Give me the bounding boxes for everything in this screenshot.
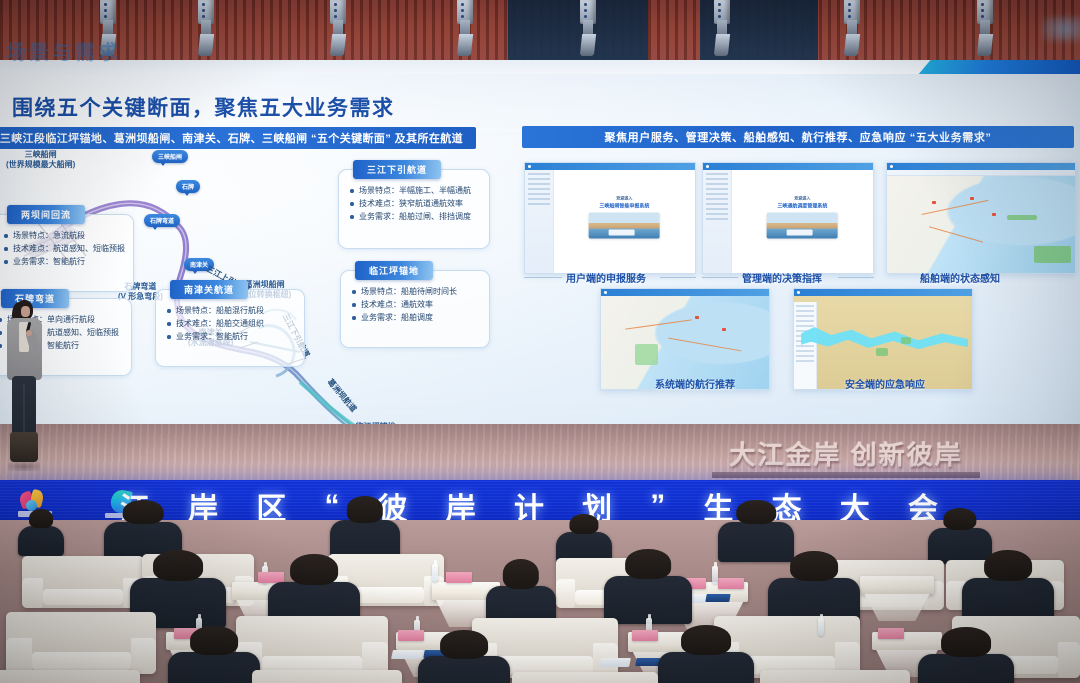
map-land-green — [1034, 246, 1072, 262]
right-section-banner-text: 聚焦用户服务、管理决策、船舶感知、航行推荐、应急响应 “五大业务需求” — [604, 129, 991, 145]
map-road — [625, 319, 692, 329]
app-screenshot-navigation-recommendation — [600, 288, 770, 390]
presenter-boots — [10, 432, 38, 462]
audience-member-foreground — [658, 652, 754, 683]
audience-chair-foreground — [0, 670, 140, 683]
map-road — [929, 226, 983, 243]
info-card-item: 场景特点：急流航段 — [3, 229, 125, 242]
app-sidebar — [703, 170, 732, 273]
audience-member-foreground — [418, 656, 510, 683]
info-card-item: 技术难点：船舶交通组织 — [166, 317, 296, 330]
app-screenshot-emergency-response — [793, 288, 973, 390]
left-section-banner-text: 围绕三峡江段临江坪锚地、葛洲坝船闸、南津关、石牌、三峡船闸 “五个关键断面” 及… — [0, 130, 463, 146]
info-card-item: 技术难点：航道感知、短临预报 — [3, 242, 125, 255]
info-card-item: 业务需求：船舶调度 — [351, 311, 481, 324]
audience-chair — [22, 556, 144, 608]
stage-light-6 — [712, 0, 732, 56]
map-marker — [970, 197, 974, 200]
stage-light-3 — [328, 0, 348, 56]
info-card-liangbajian: 两坝间回流 场景特点：急流航段 技术难点：航道感知、短临预报 业务需求：智能航行 — [0, 214, 134, 292]
map-view-sea — [887, 170, 1075, 273]
info-card-title: 临江坪锚地 — [355, 261, 433, 280]
info-card-sanjiang-lower: 三江下引航道 场景特点：半幅施工、半幅通航 技术难点：狭窄航道通航效率 业务需求… — [338, 169, 490, 249]
presenter-speaker — [2, 300, 48, 472]
info-card-title: 两坝间回流 — [7, 205, 85, 224]
info-card-list: 场景特点：船舶混行航段 技术难点：船舶交通组织 业务需求：智能航行 — [166, 304, 296, 344]
water-bottle — [432, 564, 438, 582]
map-vegetation — [901, 337, 912, 344]
info-card-item: 场景特点：船舶混行航段 — [166, 304, 296, 317]
map-road — [669, 338, 742, 352]
map-label-sanxia-lock: 三峡船闸(世界规模最大船闸) — [6, 150, 75, 170]
led-char: ” — [650, 489, 667, 523]
stage-light-7 — [842, 0, 862, 56]
info-card-title: 三江下引航道 — [353, 160, 441, 179]
info-card-item: 业务需求：船舶过闸、排挡调度 — [349, 210, 481, 223]
app-titlebar — [601, 289, 769, 296]
audience-seating-area — [0, 520, 1080, 683]
conference-stage-photo: 场景与需求 围绕五个关键断面，聚焦五大业务需求 围绕三峡江段临江坪锚地、葛洲坝船… — [0, 0, 1080, 683]
audience-chair-foreground — [252, 670, 402, 683]
caption-rule-right — [838, 277, 874, 278]
welcome-line-1: 欢迎进入 — [575, 196, 674, 202]
info-card-item: 场景特点：船舶待闸时间长 — [351, 285, 481, 298]
screenshot-caption-vessel-status: 船舶端的状态感知 — [920, 270, 1000, 285]
side-table — [860, 576, 934, 594]
audience-chair-foreground — [760, 670, 910, 683]
app-sidebar — [525, 170, 554, 273]
presenter-trousers — [12, 376, 36, 438]
map-land-green — [635, 344, 659, 364]
blue-folder — [635, 658, 660, 666]
welcome-photo — [589, 213, 660, 239]
audience-member-foreground — [168, 652, 260, 683]
info-card-nanjinguan: 南津关航道 场景特点：船舶混行航段 技术难点：船舶交通组织 业务需求：智能航行 — [155, 289, 305, 367]
app-content: 欢迎进入 三峡船闸智能申报系统 — [554, 170, 695, 273]
soffit-ghost-text: 场景与需求 — [6, 36, 121, 65]
led-char: “ — [324, 489, 341, 523]
map-marker — [992, 213, 996, 216]
app-body: 欢迎进入 三峡通航调度管理系统 — [703, 170, 873, 273]
map-vegetation — [876, 348, 888, 356]
welcome-photo — [767, 213, 838, 239]
welcome-line-1: 欢迎进入 — [753, 196, 852, 202]
audience-member — [18, 526, 64, 556]
map-left-rail — [794, 302, 817, 389]
stage-slogan-sign: 大江金岸 创新彼岸 — [712, 432, 980, 474]
name-card — [398, 630, 424, 641]
welcome-line-2: 三峡通航调度管理系统 — [753, 203, 852, 210]
welcome-line-2: 三峡船闸智能申报系统 — [575, 203, 674, 210]
map-marker — [722, 328, 726, 331]
info-card-title: 南津关航道 — [170, 280, 248, 299]
right-section-banner: 聚焦用户服务、管理决策、船舶感知、航行推荐、应急响应 “五大业务需求” — [522, 126, 1074, 148]
info-card-list: 场景特点：船舶待闸时间长 技术难点：通航效率 业务需求：船舶调度 — [351, 285, 481, 325]
stage-sign-base — [712, 472, 980, 478]
caption-rule-left — [702, 277, 738, 278]
document-paper — [599, 658, 631, 667]
app-screenshot-user-service: 欢迎进入 三峡船闸智能申报系统 — [524, 162, 696, 274]
name-card — [632, 630, 658, 641]
app-titlebar — [794, 289, 972, 296]
app-content: 欢迎进入 三峡通航调度管理系统 — [732, 170, 873, 273]
map-toolbar — [887, 170, 1075, 176]
stage-light-5 — [578, 0, 598, 56]
blue-folder — [705, 594, 730, 602]
info-card-item: 场景特点：半幅施工、半幅通航 — [349, 184, 481, 197]
stage-light-4 — [455, 0, 475, 56]
slide-title: 围绕五个关键断面，聚焦五大业务需求 — [12, 92, 395, 122]
map-pill-2: 石牌 — [176, 180, 200, 193]
audience-member-foreground — [918, 654, 1014, 683]
info-card-item: 业务需求：智能航行 — [166, 330, 296, 343]
info-card-item: 业务需求：智能航行 — [3, 255, 125, 268]
audience-chair-foreground — [512, 672, 658, 683]
left-section-banner: 围绕三峡江段临江坪锚地、葛洲坝船闸、南津关、石牌、三峡船闸 “五个关键断面” 及… — [0, 127, 476, 149]
presenter-hand — [26, 330, 32, 336]
name-card — [446, 572, 472, 583]
water-bottle — [818, 618, 824, 636]
info-card-linjiangping: 临江坪锚地 场景特点：船舶待闸时间长 技术难点：通航效率 业务需求：船舶调度 — [340, 270, 490, 348]
audience-member — [718, 522, 794, 562]
screenshot-caption-emergency-response: 安全端的应急响应 — [845, 376, 925, 391]
screenshot-caption-navigation-recommendation: 系统端的航行推荐 — [655, 376, 735, 391]
app-welcome-block: 欢迎进入 三峡船闸智能申报系统 — [575, 196, 674, 239]
map-marker — [695, 316, 699, 319]
audience-chair — [6, 612, 156, 674]
presenter-face — [21, 306, 30, 317]
app-screenshot-vessel-status — [886, 162, 1076, 274]
app-screenshot-management-decision: 欢迎进入 三峡通航调度管理系统 — [702, 162, 874, 274]
app-titlebar — [703, 163, 873, 170]
audience-member — [928, 528, 992, 564]
stage-light-8 — [975, 0, 995, 56]
presentation-screen: 围绕五个关键断面，聚焦五大业务需求 围绕三峡江段临江坪锚地、葛洲坝船闸、南津关、… — [0, 74, 1080, 469]
map-pill-1: 三峡船闸 — [152, 150, 188, 163]
info-card-list: 场景特点：急流航段 技术难点：航道感知、短临预报 业务需求：智能航行 — [3, 229, 125, 269]
info-card-item: 技术难点：狭窄航道通航效率 — [349, 197, 481, 210]
stage-slogan-text: 大江金岸 创新彼岸 — [729, 435, 962, 472]
name-card — [718, 578, 744, 589]
caption-rule-left — [524, 277, 562, 278]
name-card — [878, 628, 904, 639]
app-titlebar — [525, 163, 695, 170]
backdrop-glow — [1042, 16, 1080, 42]
map-vessel-track — [1007, 215, 1037, 220]
map-pill-3: 石牌弯道 — [144, 214, 180, 227]
info-card-list: 场景特点：半幅施工、半幅通航 技术难点：狭窄航道通航效率 业务需求：船舶过闸、排… — [349, 184, 481, 224]
app-welcome-block: 欢迎进入 三峡通航调度管理系统 — [753, 196, 852, 239]
presenter-floor-reflection — [8, 462, 40, 471]
screenshot-caption-management-decision: 管理端的决策指挥 — [742, 270, 822, 285]
info-card-item: 技术难点：通航效率 — [351, 298, 481, 311]
app-body: 欢迎进入 三峡船闸智能申报系统 — [525, 170, 695, 273]
water-bottle — [712, 566, 718, 584]
stage-light-2 — [196, 0, 216, 56]
caption-rule-right — [660, 277, 696, 278]
map-marker — [932, 201, 936, 204]
screenshot-caption-user-service: 用户端的申报服务 — [566, 270, 646, 285]
document-paper — [391, 650, 423, 659]
app-titlebar — [887, 163, 1075, 170]
